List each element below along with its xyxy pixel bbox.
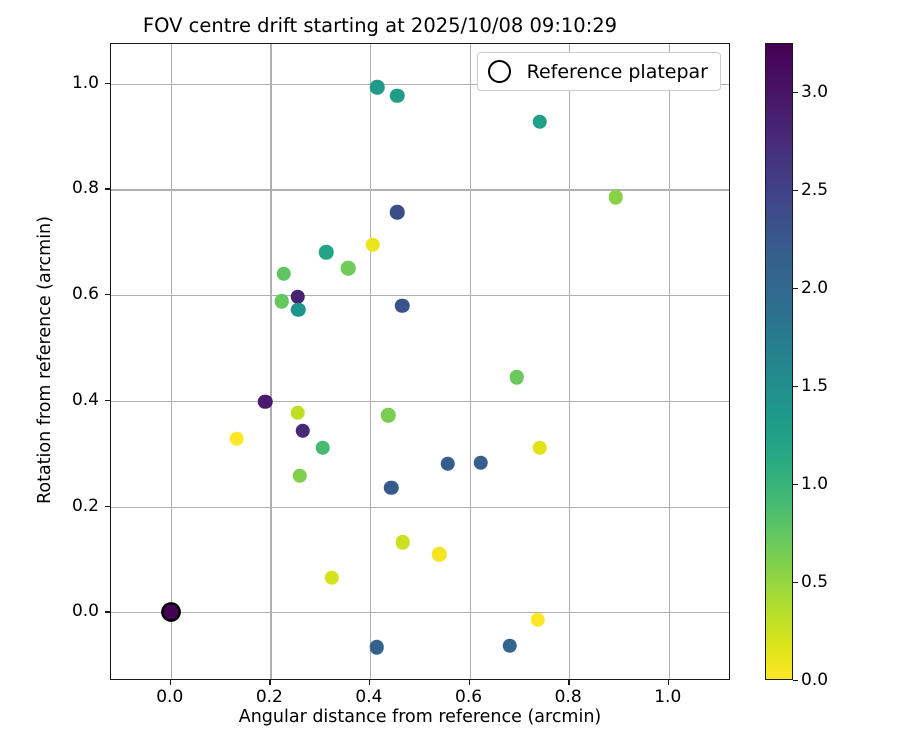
colorbar-tick-label-0: 0.0	[801, 670, 828, 690]
x-axis-label: Angular distance from reference (arcmin)	[110, 707, 730, 727]
scatter-point	[381, 408, 396, 423]
scatter-point	[258, 395, 273, 410]
x-tick-label-5: 1.0	[654, 687, 681, 707]
scatter-point	[370, 640, 385, 655]
y-tick-mark-1	[105, 506, 110, 507]
colorbar-tick-mark-1	[793, 582, 798, 583]
colorbar-tick-mark-0	[793, 680, 798, 681]
x-tick-mark-5	[668, 680, 669, 685]
scatter-point	[609, 190, 624, 205]
y-tick-label-0: 0.0	[45, 601, 99, 621]
gridline-horizontal-0	[111, 612, 729, 613]
chart-title: FOV centre drift starting at 2025/10/08 …	[0, 14, 760, 37]
gridline-horizontal-3	[111, 295, 729, 296]
scatter-point	[292, 469, 307, 484]
colorbar-tick-mark-2	[793, 484, 798, 485]
scatter-point	[396, 535, 411, 550]
chart-figure: FOV centre drift starting at 2025/10/08 …	[0, 0, 900, 750]
reference-platepar-marker-icon	[488, 60, 511, 83]
scatter-point	[275, 294, 290, 309]
x-tick-label-4: 0.8	[555, 687, 582, 707]
x-tick-label-3: 0.6	[455, 687, 482, 707]
scatter-point	[315, 441, 330, 456]
y-tick-mark-5	[105, 83, 110, 84]
scatter-point	[277, 267, 292, 282]
scatter-point	[366, 238, 381, 253]
scatter-point	[432, 547, 447, 562]
colorbar-tick-mark-4	[793, 288, 798, 289]
plot-area: Reference platepar	[110, 43, 730, 680]
colorbar-tick-mark-5	[793, 190, 798, 191]
y-tick-mark-3	[105, 294, 110, 295]
y-tick-mark-4	[105, 188, 110, 189]
colorbar-tick-label-2: 1.0	[801, 474, 828, 494]
scatter-point	[533, 114, 548, 129]
scatter-point	[503, 638, 518, 653]
x-tick-mark-3	[469, 680, 470, 685]
x-tick-label-1: 0.2	[256, 687, 283, 707]
colorbar-tick-label-6: 3.0	[801, 82, 828, 102]
scatter-point	[533, 441, 548, 456]
scatter-point	[291, 303, 306, 318]
colorbar-gradient	[766, 44, 792, 679]
scatter-point	[531, 612, 546, 627]
colorbar-tick-label-1: 0.5	[801, 572, 828, 592]
colorbar-tick-label-5: 2.5	[801, 180, 828, 200]
x-tick-mark-2	[369, 680, 370, 685]
x-tick-label-0: 0.0	[156, 687, 183, 707]
scatter-point	[390, 205, 405, 220]
scatter-point	[230, 432, 245, 447]
colorbar	[765, 43, 793, 680]
scatter-point	[390, 89, 405, 104]
scatter-point	[290, 406, 305, 421]
scatter-point	[341, 261, 356, 276]
gridline-vertical-2	[370, 44, 371, 679]
scatter-point	[384, 480, 399, 495]
gridline-vertical-4	[569, 44, 570, 679]
gridline-vertical-0	[171, 44, 172, 679]
y-tick-label-5: 1.0	[45, 73, 99, 93]
colorbar-tick-label-3: 1.5	[801, 376, 828, 396]
scatter-point	[295, 424, 310, 439]
legend: Reference platepar	[477, 52, 721, 91]
scatter-point	[324, 571, 339, 586]
reference-platepar-point	[163, 605, 178, 620]
x-tick-mark-0	[170, 680, 171, 685]
colorbar-tick-mark-6	[793, 92, 798, 93]
x-tick-mark-1	[269, 680, 270, 685]
gridline-horizontal-4	[111, 189, 729, 190]
x-tick-label-2: 0.4	[355, 687, 382, 707]
scatter-point	[370, 80, 385, 95]
legend-label-reference-platepar: Reference platepar	[527, 61, 708, 83]
gridline-vertical-1	[270, 44, 271, 679]
colorbar-tick-mark-3	[793, 386, 798, 387]
x-tick-mark-4	[568, 680, 569, 685]
scatter-point	[395, 298, 410, 313]
gridline-vertical-5	[669, 44, 670, 679]
gridline-horizontal-2	[111, 401, 729, 402]
gridline-horizontal-1	[111, 507, 729, 508]
y-tick-mark-0	[105, 611, 110, 612]
y-tick-mark-2	[105, 400, 110, 401]
colorbar-tick-label-4: 2.0	[801, 278, 828, 298]
scatter-point	[473, 455, 488, 470]
gridline-vertical-3	[470, 44, 471, 679]
scatter-point	[510, 370, 525, 385]
scatter-point	[440, 456, 455, 471]
scatter-point	[319, 245, 334, 260]
y-axis-label: Rotation from reference (arcmin)	[35, 160, 55, 560]
